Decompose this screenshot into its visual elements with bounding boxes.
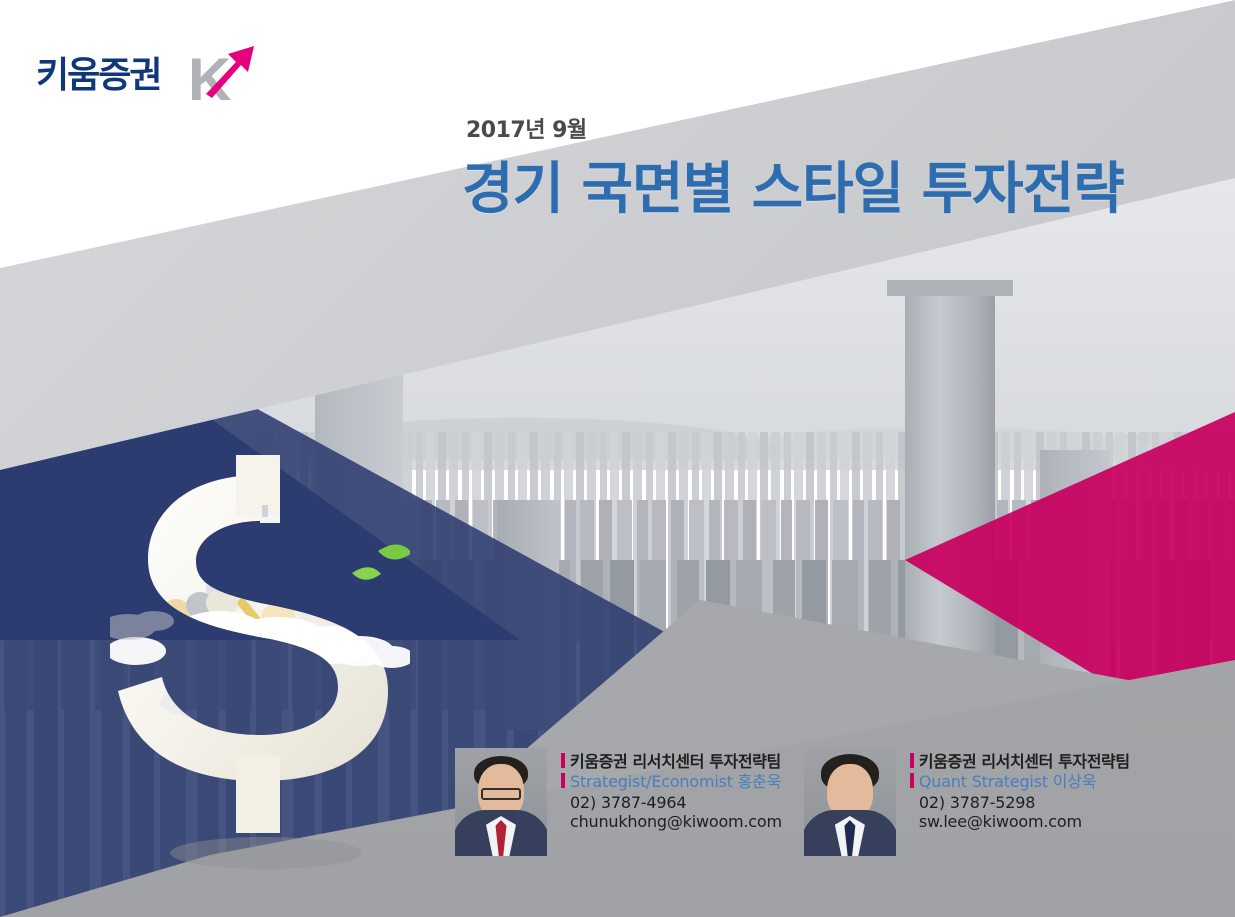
accent-bar-icon xyxy=(561,753,565,768)
contact-card-quant: 키움증권 리서치센터 투자전략팀 Quant Strategist 이상욱 02… xyxy=(804,748,1130,873)
title-block: 2017년 9월 경기 국면별 스타일 투자전략 xyxy=(462,112,1182,222)
logo-arrow-icon xyxy=(198,42,256,100)
dollar-sign-illustration xyxy=(110,455,410,885)
contact-card-strategist: 키움증권 리서치센터 투자전략팀 Strategist/Economist 홍춘… xyxy=(455,748,782,873)
publication-date: 2017년 9월 xyxy=(466,112,1182,144)
leaf-icon xyxy=(352,544,410,579)
page-title: 경기 국면별 스타일 투자전략 xyxy=(462,158,1182,222)
accent-bar-icon xyxy=(910,773,914,788)
kiwoom-logo[interactable]: K 키움증권 xyxy=(36,40,266,110)
contact-phone: 02) 3787-5298 xyxy=(910,793,1130,812)
contact-role: Strategist/Economist 홍춘욱 xyxy=(570,772,781,792)
contact-team: 키움증권 리서치센터 투자전략팀 xyxy=(919,752,1130,772)
contact-email[interactable]: sw.lee@kiwoom.com xyxy=(910,812,1130,831)
logo-wordmark: 키움증권 xyxy=(36,58,160,94)
contacts-row: 키움증권 리서치센터 투자전략팀 Strategist/Economist 홍춘… xyxy=(455,748,1225,873)
avatar xyxy=(455,748,547,856)
contact-team: 키움증권 리서치센터 투자전략팀 xyxy=(570,752,781,772)
avatar xyxy=(804,748,896,856)
accent-bar-icon xyxy=(561,773,565,788)
accent-bar-icon xyxy=(910,753,914,768)
contact-phone: 02) 3787-4964 xyxy=(561,793,782,812)
contact-email[interactable]: chunukhong@kiwoom.com xyxy=(561,812,782,831)
building-tower-main xyxy=(905,292,995,692)
contact-role: Quant Strategist 이상욱 xyxy=(919,772,1096,792)
presentation-cover-slide: K 키움증권 2017년 9월 경기 국면별 스타일 투자전략 xyxy=(0,0,1235,917)
